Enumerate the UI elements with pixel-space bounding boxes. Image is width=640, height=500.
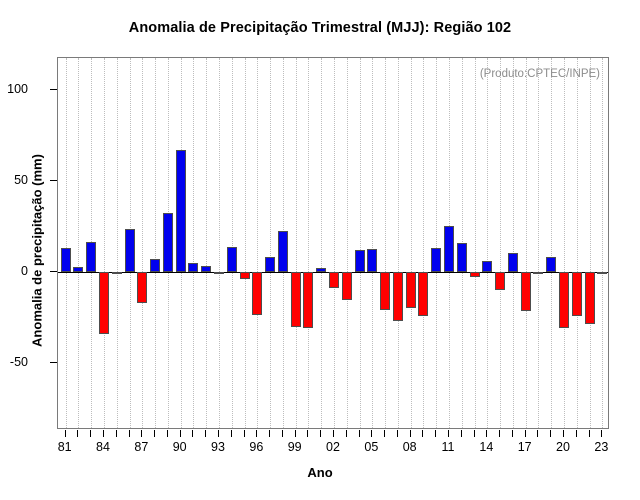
bar-1990 [176,150,186,272]
bar-2001 [316,268,326,272]
bar-2015 [495,272,505,290]
bar-1994 [227,247,237,272]
gridline [577,58,579,428]
x-tick-label-23: 23 [586,440,616,454]
bar-1988 [150,259,160,272]
x-tick-mark [512,430,513,437]
bar-1992 [201,266,211,272]
bar-1989 [163,213,173,272]
x-tick-mark [576,430,577,437]
bar-2018 [533,272,543,274]
bar-2011 [444,226,454,272]
bar-1987 [137,272,147,303]
x-tick-mark [333,430,334,437]
bar-2019 [546,257,556,272]
bar-1986 [125,229,135,272]
bar-2020 [559,272,569,328]
bar-2023 [597,272,607,274]
x-tick-mark [589,430,590,437]
x-tick-mark [116,430,117,437]
bar-2000 [303,272,313,328]
x-axis-title: Ano [0,465,640,480]
x-tick-label-84: 84 [88,440,118,454]
y-tick-mark [50,362,57,363]
x-tick-mark [103,430,104,437]
bar-1981 [61,248,71,272]
x-tick-mark [550,430,551,437]
bar-2003 [342,272,352,300]
y-tick-mark [50,89,57,90]
x-tick-mark [77,430,78,437]
gridline [334,58,336,428]
x-tick-mark [295,430,296,437]
gridline [245,58,247,428]
gridline [423,58,425,428]
y-tick-mark [50,271,57,272]
gridline [104,58,106,428]
bar-2008 [406,272,416,308]
bar-2016 [508,253,518,272]
gridline [155,58,157,428]
x-tick-label-05: 05 [356,440,386,454]
gridline [78,58,80,428]
x-tick-label-17: 17 [510,440,540,454]
gridline [411,58,413,428]
x-tick-mark [90,430,91,437]
x-tick-mark [307,430,308,437]
x-tick-mark [486,430,487,437]
bar-1984 [99,272,109,334]
x-tick-mark [474,430,475,437]
x-tick-label-87: 87 [126,440,156,454]
bar-1999 [291,272,301,327]
bar-2022 [585,272,595,324]
gridline [526,58,528,428]
y-tick-label-100: 100 [0,82,28,96]
y-tick-label--50: -50 [0,355,28,369]
gridline [487,58,489,428]
gridline [219,58,221,428]
gridline [385,58,387,428]
gridline [372,58,374,428]
x-tick-mark [537,430,538,437]
x-tick-mark [154,430,155,437]
y-tick-label-50: 50 [0,173,28,187]
x-tick-label-90: 90 [165,440,195,454]
x-tick-mark [346,430,347,437]
gridline [117,58,119,428]
x-tick-mark [601,430,602,437]
x-tick-label-14: 14 [471,440,501,454]
x-tick-mark [244,430,245,437]
x-tick-mark [282,430,283,437]
gridline [538,58,540,428]
x-tick-mark [384,430,385,437]
producer-annotation: (Produto:CPTEC/INPE) [480,68,600,80]
x-tick-mark [180,430,181,437]
gridline [564,58,566,428]
bar-2013 [470,272,480,277]
chart-page: Anomalia de Precipitação Trimestral (MJJ… [0,0,640,500]
y-axis-title: Anomalia de precipitação (mm) [30,106,45,396]
bar-1991 [188,263,198,272]
x-tick-mark [320,430,321,437]
x-tick-label-08: 08 [395,440,425,454]
bar-2004 [355,250,365,272]
bar-2005 [367,249,377,272]
x-tick-label-02: 02 [318,440,348,454]
bar-1997 [265,257,275,272]
x-tick-mark [397,430,398,437]
bar-2014 [482,261,492,272]
x-tick-mark [461,430,462,437]
x-tick-mark [65,430,66,437]
gridline [436,58,438,428]
gridline [347,58,349,428]
x-tick-label-20: 20 [548,440,578,454]
x-tick-mark [563,430,564,437]
bar-2009 [418,272,428,316]
bar-1983 [86,242,96,272]
gridline [257,58,259,428]
gridline [590,58,592,428]
gridline [232,58,234,428]
gridline [296,58,298,428]
gridline [193,58,195,428]
bar-2012 [457,243,467,272]
gridline [206,58,208,428]
gridline [66,58,68,428]
gridline [308,58,310,428]
bar-2021 [572,272,582,316]
bar-1982 [73,267,83,272]
gridline [475,58,477,428]
bar-1995 [240,272,250,279]
bar-1985 [112,272,122,274]
x-tick-mark [448,430,449,437]
bar-1996 [252,272,262,315]
y-tick-label-0: 0 [0,264,28,278]
gridline [270,58,272,428]
page-title: Anomalia de Precipitação Trimestral (MJJ… [0,20,640,36]
gridline [602,58,604,428]
x-tick-mark [129,430,130,437]
x-tick-mark [435,430,436,437]
bar-2017 [521,272,531,311]
x-tick-mark [371,430,372,437]
bar-2010 [431,248,441,272]
x-tick-label-11: 11 [433,440,463,454]
bar-2002 [329,272,339,288]
bar-2007 [393,272,403,321]
x-tick-mark [141,430,142,437]
x-tick-mark [218,430,219,437]
gridline [500,58,502,428]
bar-2006 [380,272,390,310]
x-tick-mark [422,430,423,437]
x-tick-label-99: 99 [280,440,310,454]
x-tick-mark [359,430,360,437]
gridline [321,58,323,428]
gridline [360,58,362,428]
bar-1993 [214,272,224,274]
x-tick-mark [525,430,526,437]
x-tick-mark [231,430,232,437]
plot-area: (Produto:CPTEC/INPE) [57,57,609,429]
x-tick-mark [167,430,168,437]
x-tick-mark [499,430,500,437]
x-tick-label-96: 96 [241,440,271,454]
gridline [142,58,144,428]
x-tick-label-81: 81 [50,440,80,454]
x-tick-mark [192,430,193,437]
x-tick-mark [410,430,411,437]
x-tick-mark [269,430,270,437]
gridline [513,58,515,428]
gridline [398,58,400,428]
bar-1998 [278,231,288,272]
gridline [551,58,553,428]
x-tick-mark [205,430,206,437]
x-tick-label-93: 93 [203,440,233,454]
y-tick-mark [50,180,57,181]
x-tick-mark [256,430,257,437]
